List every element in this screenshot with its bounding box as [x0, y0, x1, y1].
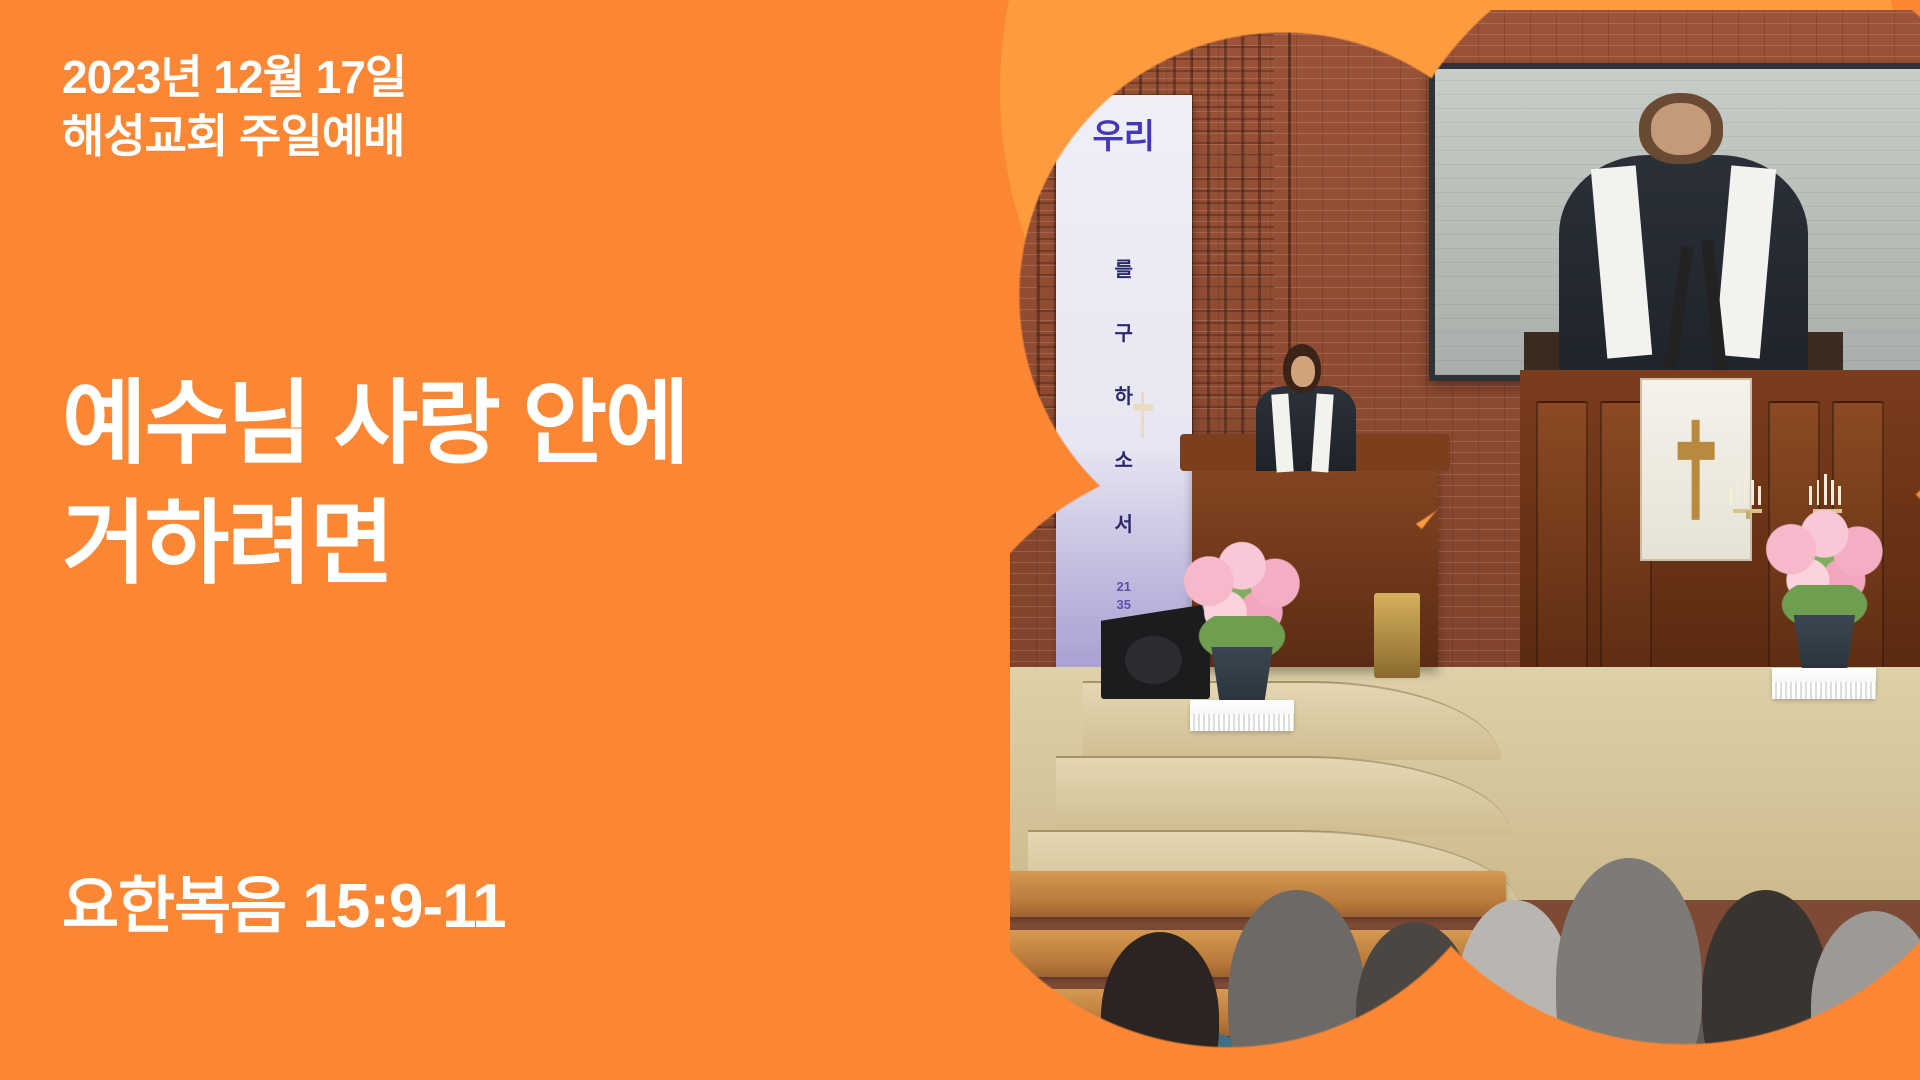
service-header: 2023년 12월 17일 해성교회 주일예배: [62, 48, 1010, 166]
candle: [1758, 486, 1761, 505]
preacher-face: [1291, 356, 1315, 388]
candelabra-left: [1728, 473, 1768, 519]
banner-text-4: 소: [1115, 451, 1133, 471]
banner-text-5: 서: [1115, 515, 1133, 535]
text-column: 2023년 12월 17일 해성교회 주일예배: [0, 0, 1010, 1080]
candle: [1809, 486, 1812, 505]
banner-text-1: 를: [1115, 260, 1133, 280]
cross-icon: [1677, 419, 1714, 519]
flower-arrangement-right: [1765, 508, 1883, 699]
candle: [1744, 474, 1747, 505]
candle: [1751, 480, 1754, 506]
lectern: [1640, 378, 1752, 561]
candle: [1729, 486, 1732, 505]
brass-lamp: [1374, 593, 1420, 678]
candle: [1824, 474, 1827, 505]
wall-cross-icon: [1133, 392, 1153, 439]
candle: [1838, 486, 1841, 505]
wood-panel: [1536, 401, 1588, 676]
flower-arrangement-left: [1183, 540, 1301, 731]
candle: [1831, 480, 1834, 506]
congregant-head: [1702, 890, 1829, 1070]
banner-text-main: 우리: [1092, 120, 1155, 154]
draped-table: [1772, 668, 1876, 699]
candle: [1817, 480, 1820, 506]
draped-table: [1190, 700, 1294, 731]
worship-photo: 우리 를 구 하 소 서 21 35 4 5-16 해성교회: [1010, 10, 1920, 1070]
candle: [1737, 480, 1740, 506]
banner-text-2: 구: [1115, 324, 1133, 344]
candelabra-stem: [1746, 511, 1750, 519]
sanctuary-scene: 우리 를 구 하 소 서 21 35 4 5-16 해성교회: [1010, 10, 1920, 1070]
congregant-head: [1811, 911, 1920, 1070]
banner-text-3: 하: [1115, 387, 1133, 407]
photo-clover-mask: 우리 를 구 하 소 서 21 35 4 5-16 해성교회: [1010, 10, 1920, 1070]
projection-screen: [1429, 63, 1920, 381]
platform-step: [1056, 756, 1511, 835]
screen-preacher-face: [1651, 103, 1711, 155]
flower-pot: [1794, 615, 1856, 672]
flower-pot: [1211, 647, 1273, 704]
